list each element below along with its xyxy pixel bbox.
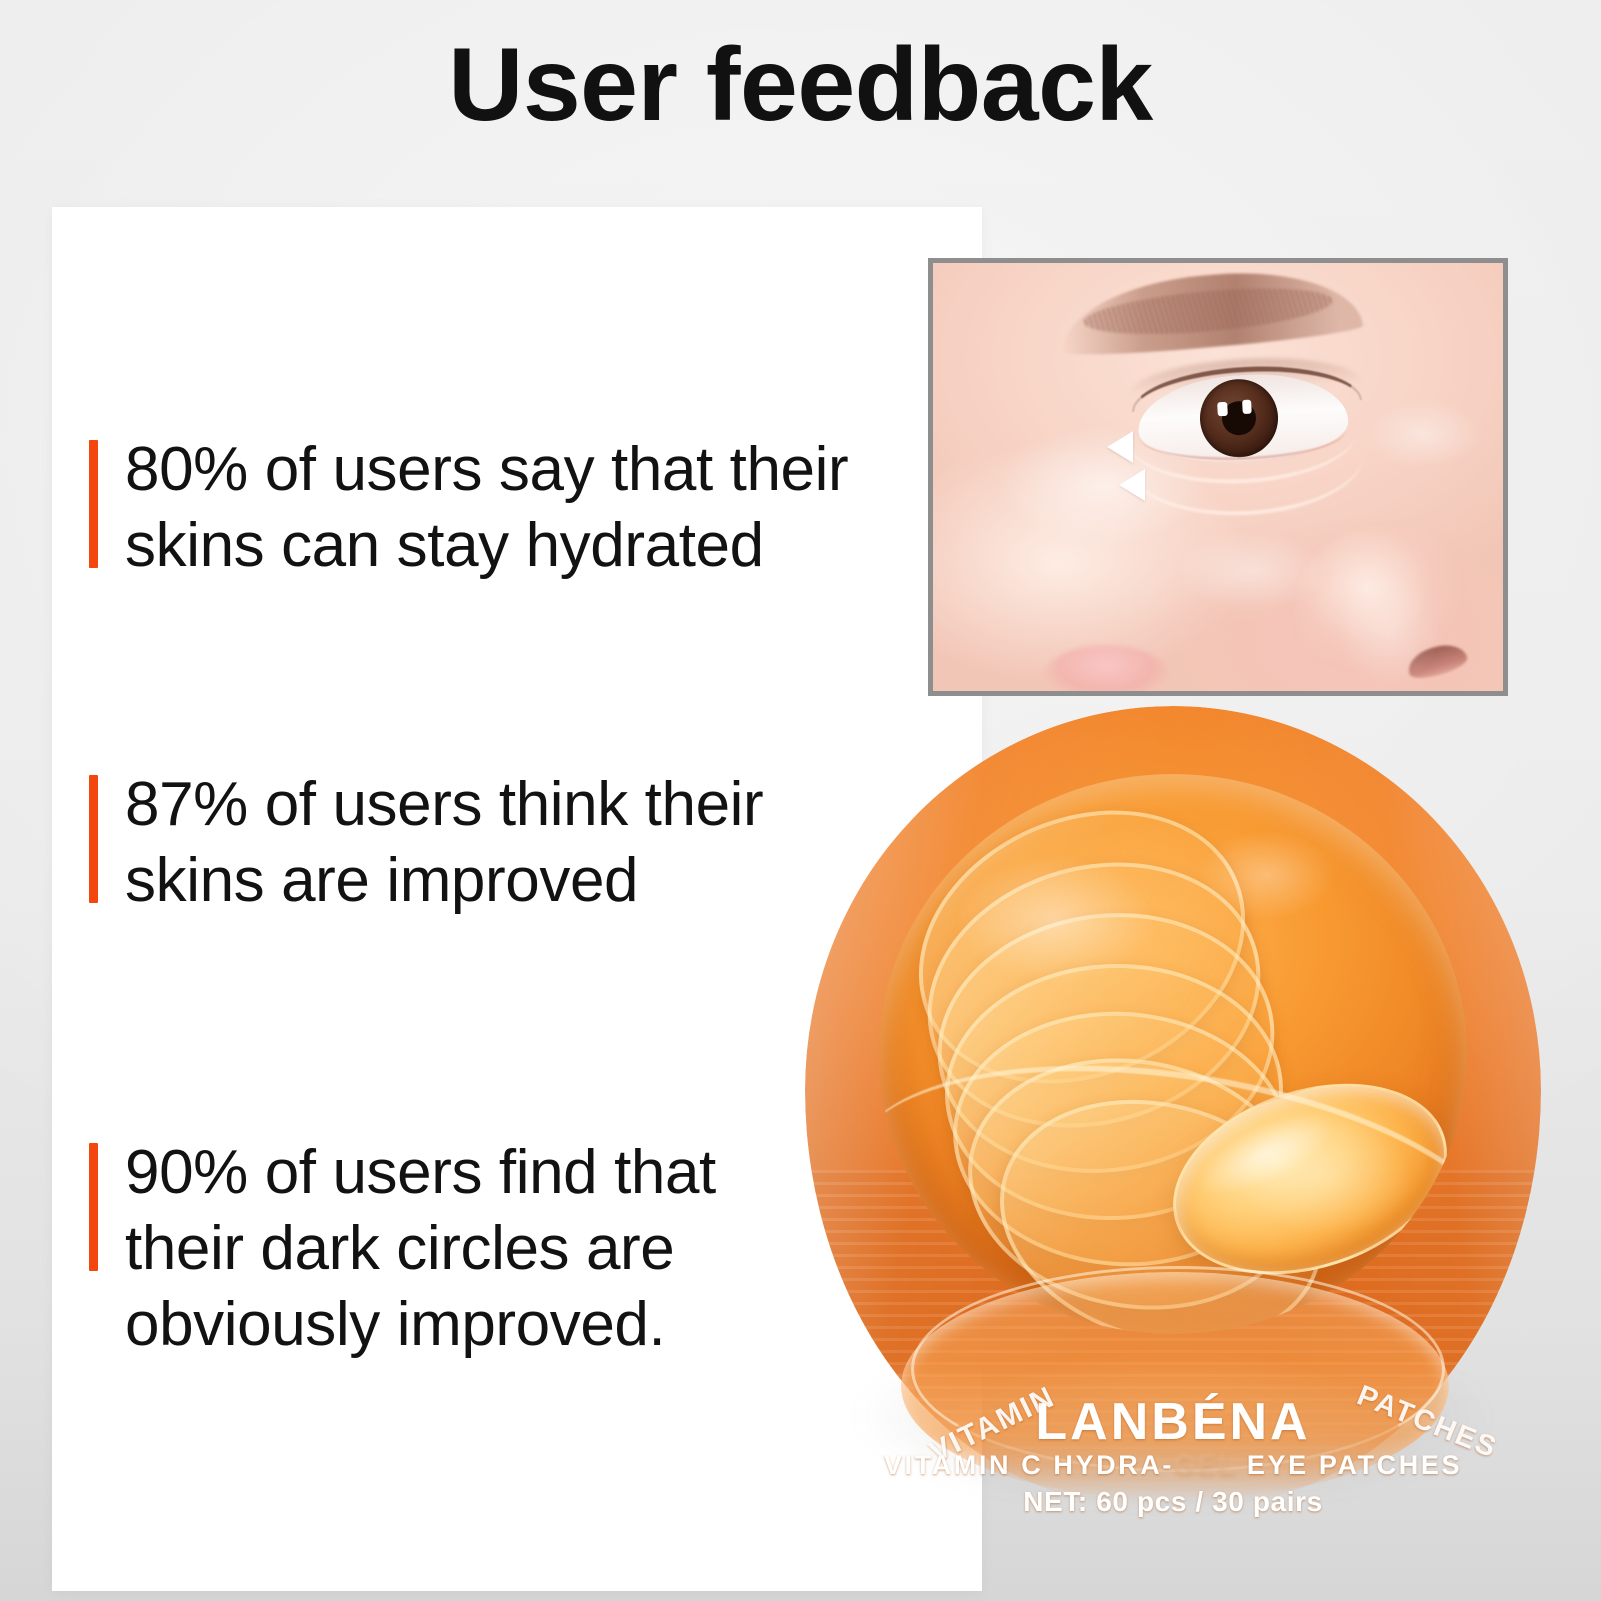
- claim-item-hydration: 80% of users say that their skins can st…: [89, 432, 848, 584]
- claim-accent-bar: [89, 1143, 98, 1271]
- claim-accent-bar: [89, 775, 98, 903]
- claim-text: 87% of users think their skins are impro…: [125, 767, 763, 919]
- product-jar: VITAMIN PATCHES LANBÉNA VITAMIN C HYDRA-…: [793, 706, 1553, 1518]
- claim-accent-bar: [89, 440, 98, 568]
- eye-closeup-photo: [928, 258, 1508, 696]
- claim-item-skin-improvement: 87% of users think their skins are impro…: [89, 767, 763, 919]
- claim-text: 90% of users find that their dark circle…: [125, 1135, 716, 1363]
- claim-item-dark-circles: 90% of users find that their dark circle…: [89, 1135, 716, 1363]
- jar-lid-edge: [911, 1266, 1445, 1472]
- skin-sheen: [933, 263, 1503, 691]
- claim-text: 80% of users say that their skins can st…: [125, 432, 848, 584]
- jar-inner-well: [879, 774, 1467, 1334]
- page-title: User feedback: [0, 26, 1601, 145]
- product-feedback-poster: User feedback 80% of users say that thei…: [0, 0, 1601, 1601]
